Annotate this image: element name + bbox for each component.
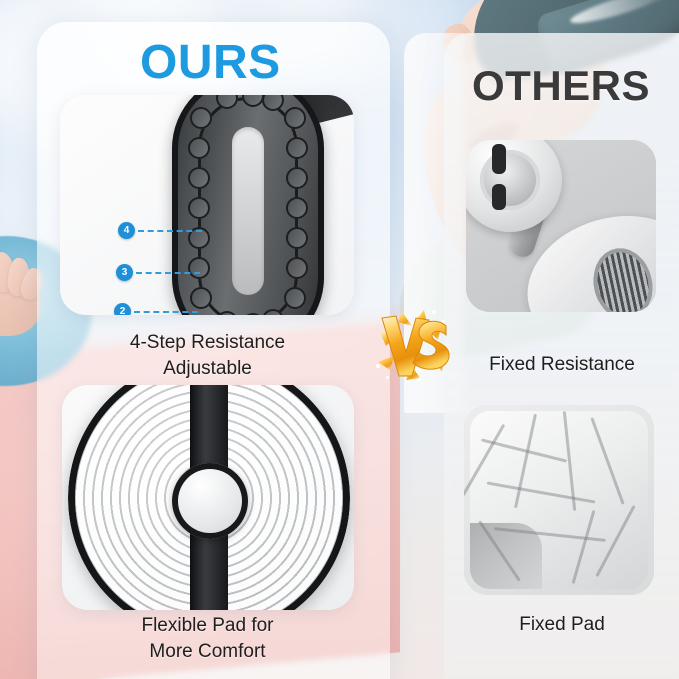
flexible-pad-photo — [62, 385, 354, 610]
cog-tooth — [286, 227, 308, 249]
cog-tooth — [188, 167, 210, 189]
versus-badge — [372, 306, 456, 386]
callout-leader-line — [136, 272, 200, 274]
fixed-pad-shadow — [470, 523, 542, 589]
fixed-resistance-wheel-photo — [466, 140, 656, 312]
cog-tooth — [286, 167, 308, 189]
cog-tooth — [188, 197, 210, 219]
callout-3: 3 — [116, 264, 200, 281]
others-title: OTHERS — [472, 62, 650, 110]
callout-4: 4 — [118, 222, 202, 239]
others-resistance-caption: Fixed Resistance — [444, 352, 679, 378]
fixed-pad-artwork — [464, 405, 654, 595]
pad-artwork — [62, 385, 354, 610]
cog-tooth — [190, 107, 212, 129]
cog-tooth — [286, 257, 308, 279]
ours-pad-caption: Flexible Pad for More Comfort — [85, 613, 330, 665]
gear-body — [172, 95, 324, 315]
ours-title: OURS — [140, 35, 281, 90]
wheel-inner-ring — [480, 150, 540, 210]
vs-sparkle — [442, 320, 445, 323]
wheel-disc-small — [466, 140, 562, 232]
cog-tooth — [188, 137, 210, 159]
callout-2: 2 — [114, 303, 198, 315]
wheel-artwork — [466, 140, 656, 312]
ours-resistance-caption: 4-Step Resistance Adjustable — [85, 330, 330, 382]
cog-tooth — [284, 107, 306, 129]
callout-number-badge: 2 — [114, 303, 131, 315]
callout-leader-line — [134, 311, 198, 313]
cog-tooth — [284, 287, 306, 309]
fixed-pad-photo — [464, 405, 654, 595]
callout-leader-line — [138, 230, 202, 232]
vs-sparkle — [418, 378, 421, 381]
cog-tooth — [286, 137, 308, 159]
callout-number-badge: 3 — [116, 264, 133, 281]
cog-tooth — [286, 197, 308, 219]
callout-number-badge: 4 — [118, 222, 135, 239]
adjustable-resistance-gear-photo: 4 3 2 1 — [60, 95, 354, 315]
gear-artwork — [60, 95, 354, 315]
vs-sparkle — [386, 376, 389, 379]
cog-center-slot — [232, 127, 264, 295]
comparison-infographic: OURS OTHERS — [0, 0, 679, 679]
others-pad-caption: Fixed Pad — [444, 612, 679, 638]
wheel-slot — [492, 144, 506, 174]
pad-hub — [172, 463, 248, 539]
vs-sparkle — [376, 364, 380, 368]
wheel-slot — [492, 184, 506, 210]
vs-sparkle — [432, 310, 436, 314]
cog-wheel — [198, 97, 298, 315]
